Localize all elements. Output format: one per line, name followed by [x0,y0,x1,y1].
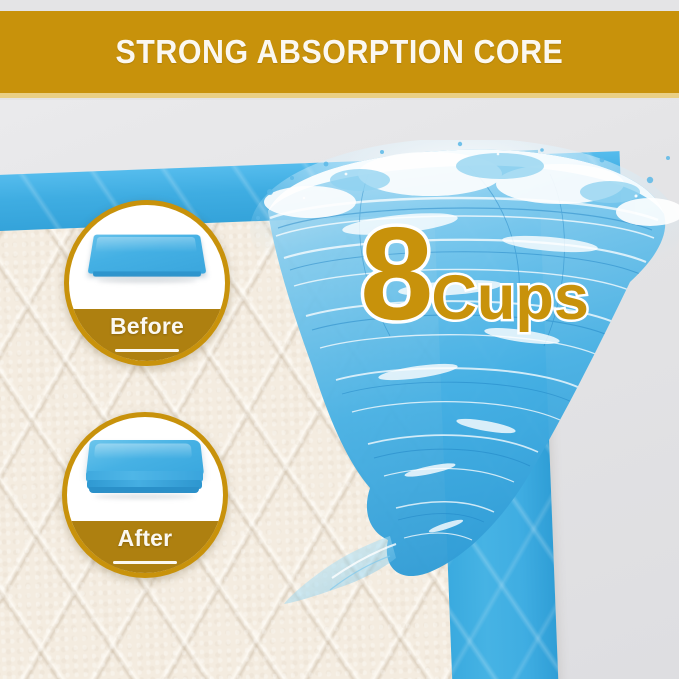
pad-edge [93,271,202,276]
badge-after-band: After [67,521,223,573]
header-banner: STRONG ABSORPTION CORE [0,11,679,93]
folded-pad-icon [67,417,223,521]
pad-border-right [432,150,559,679]
banner-title: STRONG ABSORPTION CORE [116,33,564,71]
badge-after-arc [113,561,177,564]
pad-border-right-sheen [432,150,559,679]
badge-before[interactable]: Before [64,200,230,366]
badge-after[interactable]: After [62,412,228,578]
pad-fold-layer-4 [89,487,199,493]
pad-fold-top [86,440,204,475]
pad-fold-shadow [94,494,194,499]
top-gap [0,0,679,11]
pad-shadow [97,278,197,283]
badge-before-arc [115,349,179,352]
product-scene: 8 Cups Before [0,100,679,679]
badge-before-band: Before [69,309,225,361]
flat-pad-icon [69,205,225,309]
pad-sheet [88,235,207,274]
badge-after-label: After [118,525,173,552]
badge-before-label: Before [110,313,184,340]
product-feature-image: STRONG ABSORPTION CORE [0,0,679,679]
